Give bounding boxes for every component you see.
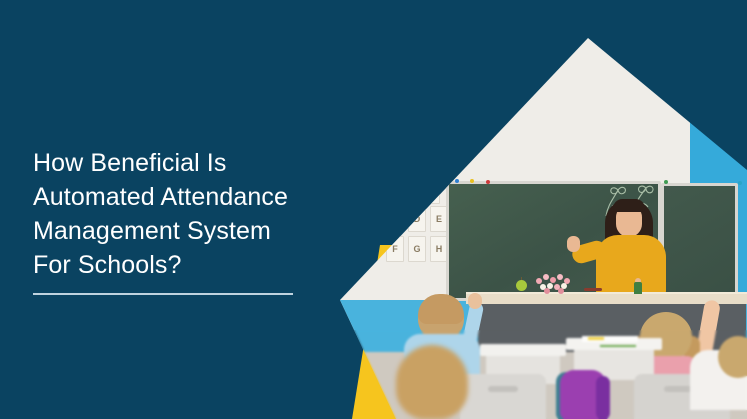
magnet-cyan [738, 181, 742, 185]
hero-banner: A B C D E F G [0, 0, 747, 419]
title-line-3: Management System [33, 214, 333, 248]
flashcard-d: D [408, 206, 426, 232]
title-line-4: For Schools? [33, 248, 333, 282]
title-line-2: Automated Attendance [33, 180, 333, 214]
flashcard-f: F [386, 236, 404, 262]
foreground-blur [330, 330, 747, 419]
flashcard-letter: D [414, 215, 421, 224]
teacher-hand [567, 236, 580, 252]
flower-bouquet [534, 272, 576, 294]
magnet-red [486, 180, 490, 184]
student-left-hand [468, 293, 482, 309]
desk-pen [584, 288, 602, 291]
magnet-green [664, 180, 668, 184]
desk-figurine [634, 282, 642, 294]
flashcard-b: B [422, 178, 440, 204]
green-apple [516, 280, 527, 291]
magnet-yellow [470, 179, 474, 183]
flashcard-g: G [408, 236, 426, 262]
magnet-blue [455, 179, 459, 183]
page-title: How Beneficial Is Automated Attendance M… [33, 146, 333, 282]
flashcard-letter: B [428, 187, 435, 196]
flashcard-letter: E [436, 215, 442, 224]
flashcard-c: C [386, 206, 404, 232]
flashcard-letter: H [436, 245, 443, 254]
title-line-1: How Beneficial Is [33, 146, 333, 180]
flashcard-letter: G [413, 245, 420, 254]
flashcard-letter: A [406, 187, 413, 196]
title-underline-rule [33, 293, 293, 295]
teacher-hair-front [613, 199, 645, 212]
chalkboard-secondary [661, 183, 738, 301]
teacher-body [596, 235, 666, 295]
flashcard-letter: C [392, 215, 399, 224]
flashcard-letter: F [392, 245, 398, 254]
flashcard-a: A [400, 178, 418, 204]
